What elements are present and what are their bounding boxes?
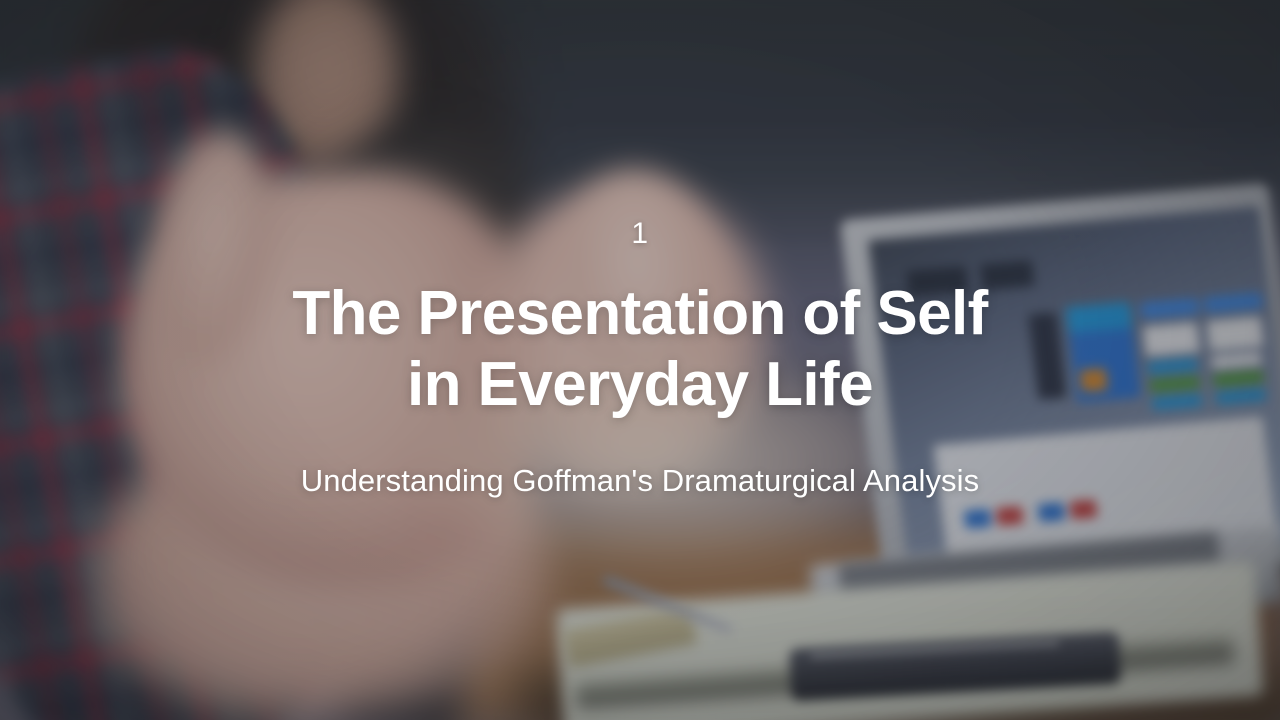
presentation-slide: 1 The Presentation of Self in Everyday L… (0, 0, 1280, 720)
slide-content: 1 The Presentation of Self in Everyday L… (0, 0, 1280, 720)
slide-title: The Presentation of Self in Everyday Lif… (260, 279, 1020, 420)
slide-subtitle: Understanding Goffman's Dramaturgical An… (301, 461, 980, 501)
slide-number: 1 (631, 219, 648, 249)
